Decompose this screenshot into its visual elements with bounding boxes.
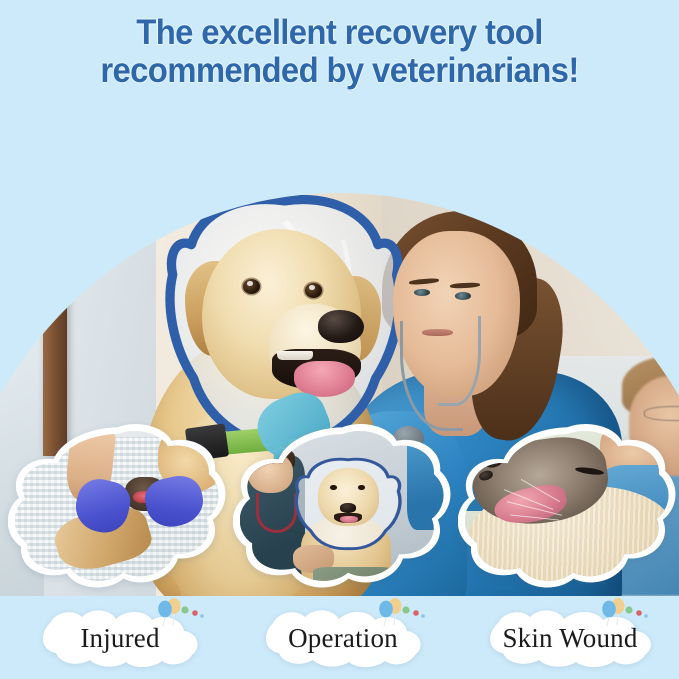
dog-eye-left	[243, 279, 260, 294]
clinic-window-rail	[0, 161, 74, 174]
use-case-photo-injured	[8, 424, 226, 592]
use-case-label-text: Injured	[80, 623, 159, 654]
clinic-window-frame	[43, 96, 67, 456]
use-case-photo-skin-wound	[458, 424, 676, 592]
veterinarian-eye-left	[414, 289, 430, 297]
dog-teeth	[277, 351, 312, 360]
use-case-label-text: Skin Wound	[502, 623, 637, 654]
balloon-decoration-operation	[373, 598, 427, 626]
ceiling-shadow	[156, 96, 439, 176]
balloon-decoration-injured	[152, 598, 206, 626]
dog-eye-right	[305, 283, 322, 298]
operation-dog-photo	[240, 431, 444, 585]
use-case-label-text: Operation	[288, 623, 398, 654]
product-poster: The excellent recovery tool recommended …	[0, 0, 679, 679]
headline-line-1: The excellent recovery tool	[20, 14, 658, 52]
use-case-photo-operation	[233, 424, 451, 592]
skin-wound-photo	[465, 431, 669, 585]
headline-line-2: recommended by veterinarians!	[20, 52, 658, 90]
headline: The excellent recovery tool recommended …	[0, 14, 679, 90]
veterinarian-eye-right	[455, 292, 471, 300]
balloon-decoration-skin-wound	[596, 598, 650, 626]
injured-paw-photo	[15, 431, 219, 585]
dog-nose	[318, 310, 363, 343]
